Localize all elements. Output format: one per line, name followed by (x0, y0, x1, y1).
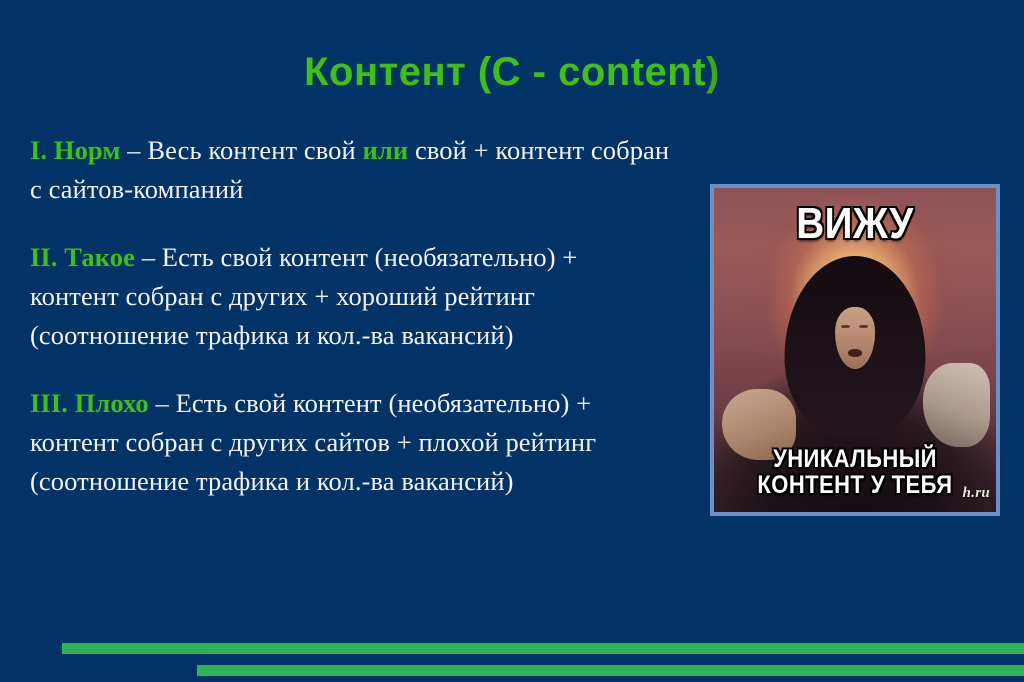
meme-figure-face (835, 307, 876, 369)
paragraph-ploho-lead: III. Плохо (30, 388, 149, 418)
slide-body: I. Норм – Весь контент свой или свой + к… (30, 104, 670, 527)
meme-watermark: h.ru (963, 485, 990, 502)
decorative-bar-bottom (197, 665, 1024, 676)
paragraph-ploho-dash: – (149, 388, 176, 418)
meme-bottom-caption: УНИКАЛЬНЫЙ КОНТЕНТ У ТЕБЯ (731, 447, 979, 498)
meme-figure-head (785, 256, 926, 437)
page-title: Контент (C - content) (0, 49, 1024, 95)
meme-image: ВИЖУ УНИКАЛЬНЫЙ КОНТЕНТ У ТЕБЯ h.ru (710, 184, 1000, 516)
paragraph-takoe-lead: II. Такое (30, 242, 135, 272)
paragraph-norm-text-a: Весь контент свой (147, 135, 362, 165)
paragraph-takoe: II. Такое – Есть свой контент (необязате… (30, 238, 670, 355)
paragraph-takoe-dash: – (135, 242, 162, 272)
paragraph-norm-highlight: или (363, 135, 409, 165)
paragraph-norm: I. Норм – Весь контент свой или свой + к… (30, 131, 670, 209)
decorative-bar-top (62, 643, 1024, 654)
meme-eye-right (859, 325, 868, 328)
meme-mouth (848, 349, 862, 357)
paragraph-norm-lead: I. Норм (30, 135, 121, 165)
meme-bottom-caption-line1: УНИКАЛЬНЫЙ (773, 445, 937, 473)
paragraph-norm-dash: – (121, 135, 148, 165)
paragraph-ploho: III. Плохо – Есть свой контент (необязат… (30, 384, 670, 501)
meme-figure-collar (923, 363, 991, 447)
meme-eye-left (842, 325, 851, 328)
page-title-main: Контент (C - content (304, 50, 706, 94)
meme-top-caption: ВИЖУ (731, 202, 979, 247)
slide-canvas: Контент (C - content) I. Норм – Весь кон… (0, 0, 1024, 682)
page-title-tail: ) (706, 50, 720, 94)
meme-bottom-caption-line2: КОНТЕНТ У ТЕБЯ (731, 473, 979, 499)
